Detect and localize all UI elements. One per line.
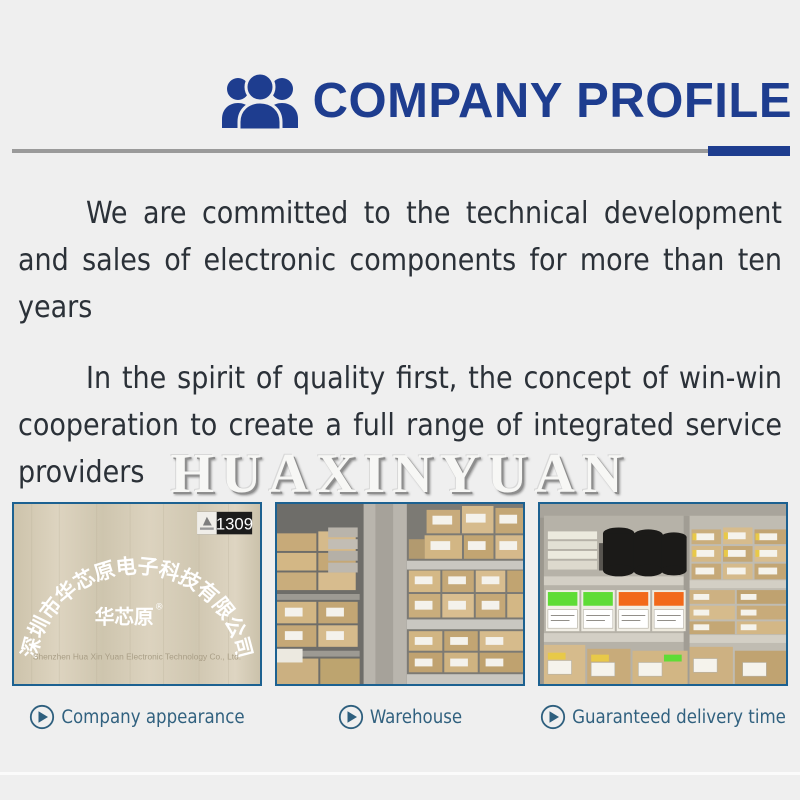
play-circle-icon (540, 704, 566, 730)
play-circle-icon (29, 704, 55, 730)
people-group-icon (221, 72, 299, 130)
header-divider (12, 146, 790, 156)
divider-blue-accent (708, 146, 790, 156)
svg-text:Shenzhen Hua Xin Yuan Electron: Shenzhen Hua Xin Yuan Electronic Technol… (33, 652, 241, 662)
bottom-separator (0, 772, 800, 775)
caption-company-appearance: Company appearance (12, 700, 262, 734)
company-appearance-photo[interactable]: 深圳市华芯原电子科技有限公司 华芯原 ® Shenzhen Hua Xin Yu… (12, 502, 262, 686)
svg-text:华芯原: 华芯原 (95, 605, 154, 628)
play-circle-icon (338, 704, 364, 730)
caption-label: Guaranteed delivery time (572, 707, 786, 728)
caption-guaranteed-delivery-time: Guaranteed delivery time (538, 700, 788, 734)
caption-warehouse: Warehouse (275, 700, 525, 734)
page-header: COMPANY PROFILE (0, 62, 800, 140)
warehouse-photo[interactable] (275, 502, 525, 686)
room-number-plate: 1309 (197, 512, 253, 535)
warehouse-image (277, 504, 523, 684)
profile-paragraph-2: In the spirit of quality first, the conc… (18, 355, 782, 496)
caption-label: Warehouse (370, 707, 462, 728)
svg-text:®: ® (155, 603, 164, 613)
photo-caption-row: Company appearance Warehouse Guaranteed … (12, 700, 788, 734)
divider-gray-line (12, 149, 790, 153)
photo-gallery: 深圳市华芯原电子科技有限公司 华芯原 ® Shenzhen Hua Xin Yu… (12, 502, 788, 686)
page-title: COMPANY PROFILE (313, 77, 792, 126)
delivery-stock-photo[interactable] (538, 502, 788, 686)
profile-text-block: We are committed to the technical develo… (18, 190, 782, 496)
profile-paragraph-1: We are committed to the technical develo… (18, 190, 782, 331)
caption-label: Company appearance (61, 707, 244, 728)
svg-text:1309: 1309 (216, 514, 253, 533)
company-appearance-image: 深圳市华芯原电子科技有限公司 华芯原 ® Shenzhen Hua Xin Yu… (14, 504, 260, 684)
delivery-stock-image (540, 504, 786, 684)
